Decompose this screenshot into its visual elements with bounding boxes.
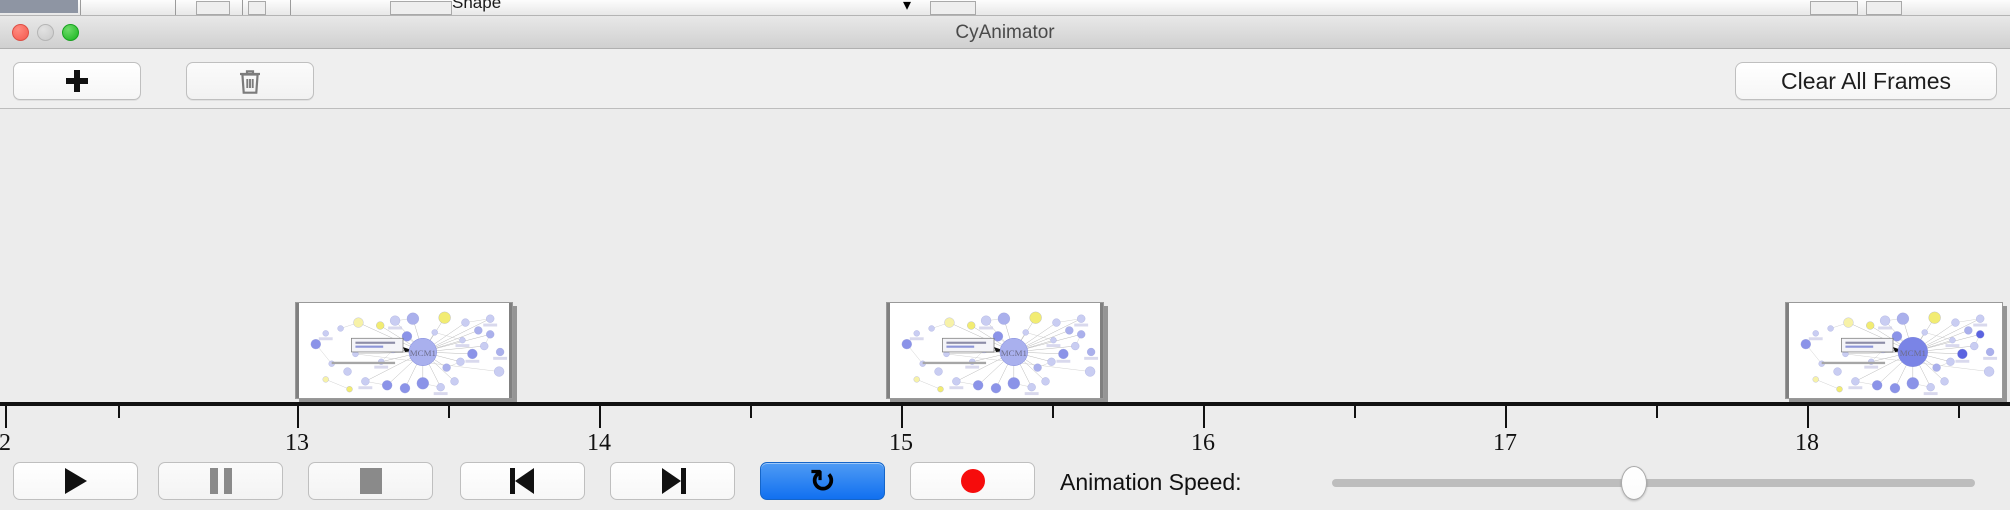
axis-tick-major (1807, 406, 1809, 428)
skip-back-icon (510, 468, 536, 494)
frame-handle-right[interactable] (509, 303, 512, 398)
background-caret-icon: ▾ (903, 0, 911, 14)
axis-tick-minor (1958, 406, 1960, 418)
loop-button[interactable]: ↻ (760, 462, 885, 500)
record-button[interactable] (910, 462, 1035, 500)
frame-thumbnail-3[interactable]: MCM1 (1785, 302, 2003, 399)
frame-thumbnail-2[interactable]: MCM1 (886, 302, 1104, 399)
background-field (1810, 1, 1858, 15)
slider-thumb[interactable] (1621, 466, 1647, 500)
cyanimator-window: CyAnimator Clear All Frames MCM1 (0, 16, 2010, 510)
add-frame-button[interactable] (13, 62, 141, 100)
skip-forward-icon (660, 468, 686, 494)
next-frame-button[interactable] (610, 462, 735, 500)
background-toolbar-strip (0, 0, 2010, 16)
axis-tick-major (599, 406, 601, 428)
frame-handle-right[interactable] (1100, 303, 1103, 398)
background-divider (175, 0, 176, 16)
axis-line (0, 402, 2010, 406)
background-field (248, 1, 266, 15)
previous-frame-button[interactable] (460, 462, 585, 500)
axis-tick-minor (1354, 406, 1356, 418)
frame-thumbnail-1[interactable]: MCM1 (295, 302, 513, 399)
axis-tick-major (1203, 406, 1205, 428)
background-shape-label: Shape (452, 0, 501, 13)
frame-handle-left[interactable] (296, 303, 299, 398)
frame-handle-left[interactable] (1786, 303, 1789, 398)
background-divider (290, 0, 291, 16)
trash-icon (238, 68, 262, 95)
background-field (196, 1, 230, 15)
record-icon (961, 469, 985, 493)
play-icon (65, 468, 87, 494)
play-button[interactable] (13, 462, 138, 500)
axis-tick-major (297, 406, 299, 428)
axis-tick-minor (1052, 406, 1054, 418)
timeline-axis: 2131415161718 (0, 402, 2010, 403)
frame-handle-left[interactable] (887, 303, 890, 398)
axis-tick-minor (750, 406, 752, 418)
background-window: Shape ▾ (0, 0, 2010, 16)
svg-text:MCM1: MCM1 (410, 348, 436, 358)
axis-tick-major (5, 406, 7, 428)
axis-tick-minor (118, 406, 120, 418)
background-selected-tab (0, 0, 78, 13)
svg-text:MCM1: MCM1 (1900, 348, 1926, 358)
delete-frame-button[interactable] (186, 62, 314, 100)
toolbar: Clear All Frames (0, 49, 2010, 109)
svg-text:MCM1: MCM1 (1001, 348, 1027, 358)
slider-track[interactable] (1332, 479, 1975, 487)
background-divider (80, 0, 81, 16)
animation-speed-label: Animation Speed: (1060, 469, 1242, 496)
timeline-panel[interactable]: MCM1 MCM1 MCM1 2131415161718 Seconds (0, 109, 2010, 416)
playback-bar: ↻ Animation Speed: (0, 453, 2010, 510)
background-field (930, 1, 976, 15)
axis-tick-major (1505, 406, 1507, 428)
stop-icon (360, 468, 382, 494)
window-title: CyAnimator (0, 22, 2010, 44)
axis-tick-minor (1656, 406, 1658, 418)
clear-all-frames-label: Clear All Frames (1781, 68, 1951, 95)
plus-icon (66, 70, 88, 92)
title-bar: CyAnimator (0, 16, 2010, 49)
pause-button[interactable] (158, 462, 283, 500)
loop-icon: ↻ (809, 468, 836, 494)
background-field (1866, 1, 1902, 15)
background-field (390, 1, 452, 15)
clear-all-frames-button[interactable]: Clear All Frames (1735, 62, 1997, 100)
background-divider (242, 0, 243, 16)
axis-tick-minor (448, 406, 450, 418)
axis-tick-major (901, 406, 903, 428)
stop-button[interactable] (308, 462, 433, 500)
animation-speed-slider[interactable] (1332, 479, 1975, 487)
pause-icon (210, 468, 232, 494)
